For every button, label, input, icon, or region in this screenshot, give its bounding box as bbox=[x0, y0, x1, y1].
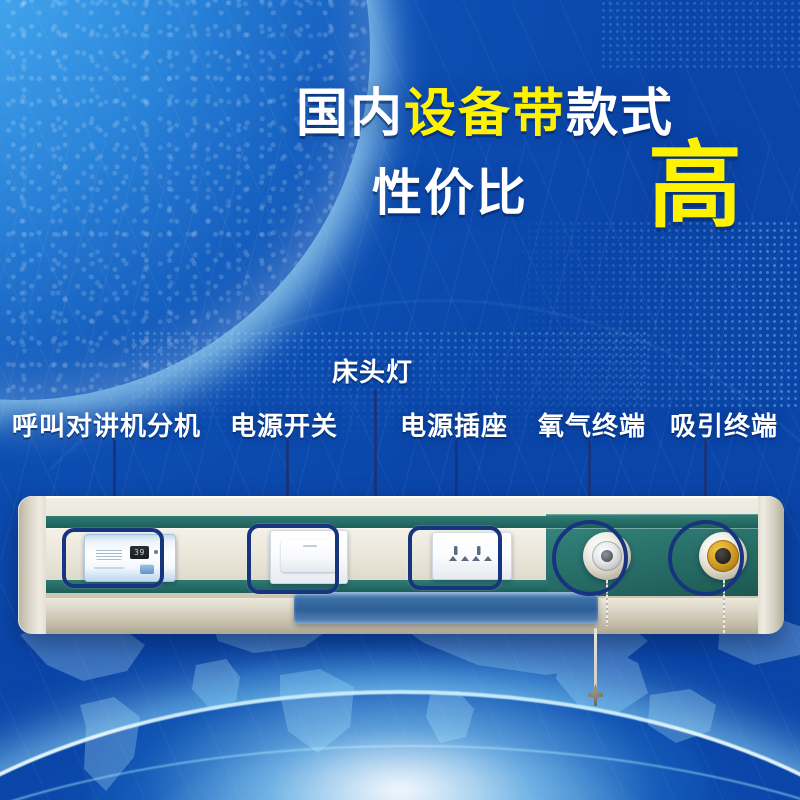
suction-terminal-port-icon bbox=[715, 548, 731, 564]
callout-layer: 呼叫对讲机分机 电源开关 床头灯 电源插座 氧气终端 吸引终端 bbox=[0, 0, 800, 470]
nurse-call-intercom-unit[interactable]: 39 bbox=[84, 534, 176, 582]
pull-cord[interactable] bbox=[594, 628, 597, 690]
light-arc-primary bbox=[0, 690, 800, 800]
callout-label-bed-lamp: 床头灯 bbox=[332, 358, 413, 388]
suction-terminal-gold-ring bbox=[707, 540, 739, 572]
oxygen-terminal-inner-ring bbox=[592, 541, 622, 571]
rocker-notch-icon bbox=[303, 545, 317, 547]
pull-cord-knob-icon[interactable] bbox=[588, 684, 603, 706]
panel-end-cap-right bbox=[758, 496, 784, 634]
callout-label-oxygen: 氧气终端 bbox=[538, 412, 646, 442]
power-switch[interactable] bbox=[270, 530, 348, 584]
suction-terminal[interactable] bbox=[699, 532, 747, 580]
callout-label-intercom: 呼叫对讲机分机 bbox=[12, 412, 201, 442]
intercom-trim-line bbox=[94, 567, 124, 569]
socket-pin-holes-icon bbox=[432, 532, 512, 580]
callout-label-power-socket: 电源插座 bbox=[400, 412, 508, 442]
promo-banner: 国内设备带款式 性价比 高 呼叫对讲机分机 电源开关 床头灯 电源插座 氧气终端… bbox=[0, 0, 800, 800]
light-arc-secondary bbox=[0, 745, 800, 800]
bed-lamp-strip[interactable] bbox=[294, 592, 598, 624]
oxygen-terminal-port-icon bbox=[601, 550, 613, 562]
panel-end-cap-left bbox=[18, 496, 46, 634]
medical-equipment-panel: 39 bbox=[18, 496, 784, 634]
oxygen-cord bbox=[606, 580, 608, 626]
intercom-display: 39 bbox=[130, 546, 149, 559]
bottom-glow bbox=[90, 650, 710, 800]
callout-label-suction: 吸引终端 bbox=[670, 412, 778, 442]
power-switch-rocker[interactable] bbox=[281, 540, 337, 572]
speaker-grille-icon bbox=[96, 548, 122, 560]
panel-body: 39 bbox=[18, 496, 784, 634]
suction-cord bbox=[723, 580, 725, 634]
callout-label-power-switch: 电源开关 bbox=[230, 412, 338, 442]
power-socket[interactable] bbox=[432, 532, 512, 580]
oxygen-terminal[interactable] bbox=[583, 532, 631, 580]
panel-stripe-top bbox=[36, 516, 766, 528]
status-led-icon bbox=[154, 550, 158, 554]
intercom-call-button[interactable] bbox=[140, 564, 154, 574]
